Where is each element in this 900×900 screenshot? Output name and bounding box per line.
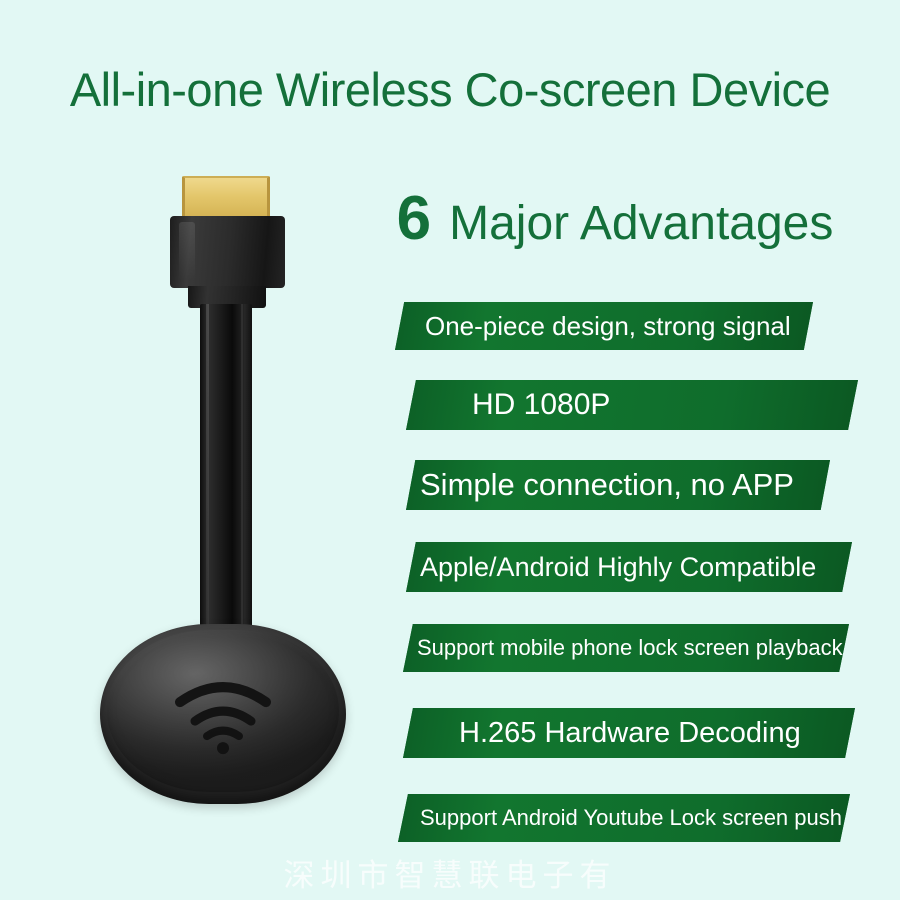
- feature-banner-2: HD 1080P: [406, 380, 858, 430]
- feature-banner-6: H.265 Hardware Decoding: [403, 708, 855, 758]
- feature-banner-1: One-piece design, strong signal: [395, 302, 813, 350]
- feature-banner-label: Apple/Android Highly Compatible: [420, 552, 852, 583]
- feature-banner-label: HD 1080P: [472, 388, 858, 422]
- feature-banner-label: Support Android Youtube Lock screen push: [420, 805, 850, 831]
- feature-banner-3: Simple connection, no APP: [406, 460, 830, 510]
- feature-banner-5: Support mobile phone lock screen playbac…: [403, 624, 849, 672]
- advantages-count: 6: [397, 188, 431, 250]
- wifi-icon: [170, 678, 276, 756]
- receiver-puck: [100, 624, 346, 804]
- advantages-heading: 6 Major Advantages: [355, 188, 875, 250]
- feature-banner-label: H.265 Hardware Decoding: [459, 717, 855, 750]
- feature-banner-label: One-piece design, strong signal: [425, 311, 813, 342]
- wifi-icon-dot: [217, 742, 229, 754]
- flat-ribbon-cable: [200, 304, 252, 656]
- advantages-heading-label: Major Advantages: [449, 200, 833, 248]
- feature-banner-7: Support Android Youtube Lock screen push: [398, 794, 850, 842]
- feature-banner-label: Simple connection, no APP: [420, 467, 830, 503]
- product-poster: All-in-one Wireless Co-screen Device 6 M…: [0, 0, 900, 900]
- feature-banner-4: Apple/Android Highly Compatible: [406, 542, 852, 592]
- hdmi-connector-body: [170, 216, 285, 288]
- hdmi-gold-contact-plate: [182, 176, 270, 220]
- feature-banner-label: Support mobile phone lock screen playbac…: [417, 635, 849, 661]
- product-illustration: [0, 0, 380, 900]
